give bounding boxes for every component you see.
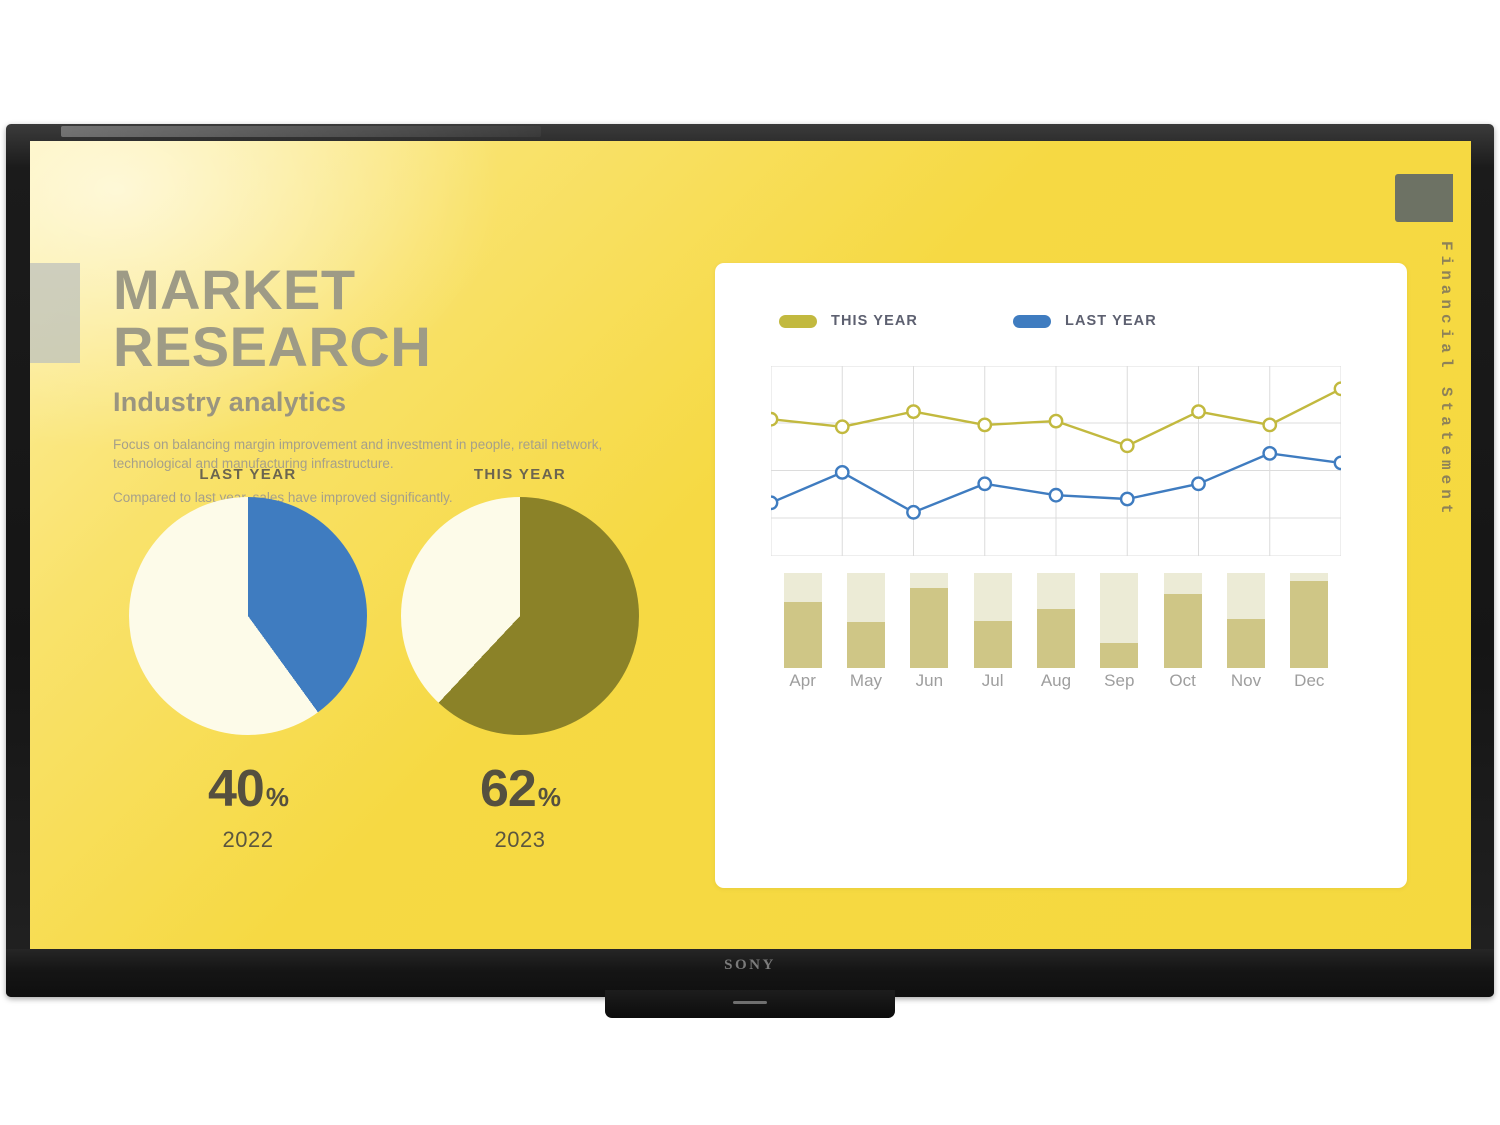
month-label: Oct xyxy=(1151,671,1214,691)
bar-chart xyxy=(771,573,1341,668)
data-point-marker xyxy=(836,466,848,478)
bar-segment-remainder xyxy=(974,573,1012,621)
data-point-marker xyxy=(1264,447,1276,459)
power-led-icon xyxy=(733,1001,767,1004)
pie-value-number: 62 xyxy=(480,760,536,818)
data-point-marker xyxy=(1335,457,1341,469)
bar-segment-remainder xyxy=(1227,573,1265,619)
sony-logo: SONY xyxy=(724,957,776,974)
bar-column xyxy=(910,573,948,668)
pie-graphic xyxy=(129,497,367,735)
bar-column xyxy=(847,573,885,668)
bar-segment-remainder xyxy=(1100,573,1138,643)
pie-chart-group: LAST YEAR 40% 2022 THIS YEAR 62% 2023 xyxy=(113,466,673,886)
page-subtitle: Industry analytics xyxy=(113,387,673,418)
bar-column xyxy=(1227,573,1265,668)
bar-chart-month-axis: AprMayJunJulAugSepOctNovDec xyxy=(771,671,1341,691)
pie-graphic xyxy=(401,497,639,735)
decorative-rectangle-right xyxy=(1395,174,1453,222)
pie-year: 2023 xyxy=(385,827,655,853)
month-label: Nov xyxy=(1214,671,1277,691)
bar-segment-filled xyxy=(1164,594,1202,668)
side-label-financial-statement: Financial Statement xyxy=(1437,241,1455,518)
bar-segment-remainder xyxy=(784,573,822,602)
pie-percent-symbol: % xyxy=(538,782,560,812)
bar-segment-filled xyxy=(1100,643,1138,668)
data-point-marker xyxy=(1121,493,1133,505)
tv-screen: Financial Statement MARKET RESEARCH Indu… xyxy=(30,141,1471,949)
data-point-marker xyxy=(1050,489,1062,501)
tv-frame: Financial Statement MARKET RESEARCH Indu… xyxy=(6,124,1494,997)
pie-caption: THIS YEAR xyxy=(385,466,655,483)
bar-segment-filled xyxy=(910,588,948,668)
bar-column xyxy=(1100,573,1138,668)
month-label: Jul xyxy=(961,671,1024,691)
data-point-marker xyxy=(836,421,848,433)
legend-item: THIS YEAR xyxy=(779,313,918,329)
screenshot-root: Financial Statement MARKET RESEARCH Indu… xyxy=(0,0,1500,1125)
bar-segment-filled xyxy=(974,621,1012,669)
data-point-marker xyxy=(1192,405,1204,417)
page-title: MARKET RESEARCH xyxy=(113,261,673,375)
bar-segment-filled xyxy=(1037,609,1075,668)
pie-year: 2022 xyxy=(113,827,383,853)
bar-segment-remainder xyxy=(1037,573,1075,609)
data-point-marker xyxy=(1192,478,1204,490)
line-chart xyxy=(771,366,1341,556)
bar-segment-remainder xyxy=(1164,573,1202,594)
month-label: Dec xyxy=(1278,671,1341,691)
data-point-marker xyxy=(979,478,991,490)
data-point-marker xyxy=(771,413,777,425)
bar-segment-filled xyxy=(847,622,885,668)
bar-segment-filled xyxy=(784,602,822,669)
bar-column xyxy=(1290,573,1328,668)
analytics-card: THIS YEARLAST YEAR AprMayJunJulAugSepOct… xyxy=(715,263,1407,888)
presentation-slide: Financial Statement MARKET RESEARCH Indu… xyxy=(30,141,1471,949)
bar-segment-remainder xyxy=(847,573,885,622)
data-point-marker xyxy=(907,506,919,518)
pie-caption: LAST YEAR xyxy=(113,466,383,483)
decorative-rectangle-left xyxy=(30,263,80,363)
legend-swatch-icon xyxy=(1013,315,1051,328)
tv-stand xyxy=(605,990,895,1018)
legend-swatch-icon xyxy=(779,315,817,328)
data-point-marker xyxy=(1335,383,1341,395)
pie-percent-symbol: % xyxy=(266,782,288,812)
data-point-marker xyxy=(1264,419,1276,431)
data-point-marker xyxy=(979,419,991,431)
data-point-marker xyxy=(771,497,777,509)
month-label: Apr xyxy=(771,671,834,691)
bar-column xyxy=(1164,573,1202,668)
bar-segment-remainder xyxy=(1290,573,1328,581)
legend-item: LAST YEAR xyxy=(1013,313,1157,329)
bar-column xyxy=(1037,573,1075,668)
data-point-marker xyxy=(1121,440,1133,452)
month-label: Sep xyxy=(1088,671,1151,691)
bar-segment-filled xyxy=(1227,619,1265,668)
month-label: Aug xyxy=(1024,671,1087,691)
bezel-highlight xyxy=(61,126,541,137)
bar-segment-remainder xyxy=(910,573,948,588)
month-label: May xyxy=(834,671,897,691)
pie-value-number: 40 xyxy=(208,760,264,818)
pie-value: 62% xyxy=(385,763,655,815)
bar-column xyxy=(784,573,822,668)
data-point-marker xyxy=(1050,415,1062,427)
pie-chart-this-year: THIS YEAR 62% 2023 xyxy=(385,466,655,853)
month-label: Jun xyxy=(898,671,961,691)
legend-label: LAST YEAR xyxy=(1065,313,1157,329)
bar-segment-filled xyxy=(1290,581,1328,668)
data-point-marker xyxy=(907,405,919,417)
chart-legend: THIS YEARLAST YEAR xyxy=(779,313,1157,329)
pie-chart-last-year: LAST YEAR 40% 2022 xyxy=(113,466,383,853)
bar-column xyxy=(974,573,1012,668)
pie-value: 40% xyxy=(113,763,383,815)
legend-label: THIS YEAR xyxy=(831,313,918,329)
